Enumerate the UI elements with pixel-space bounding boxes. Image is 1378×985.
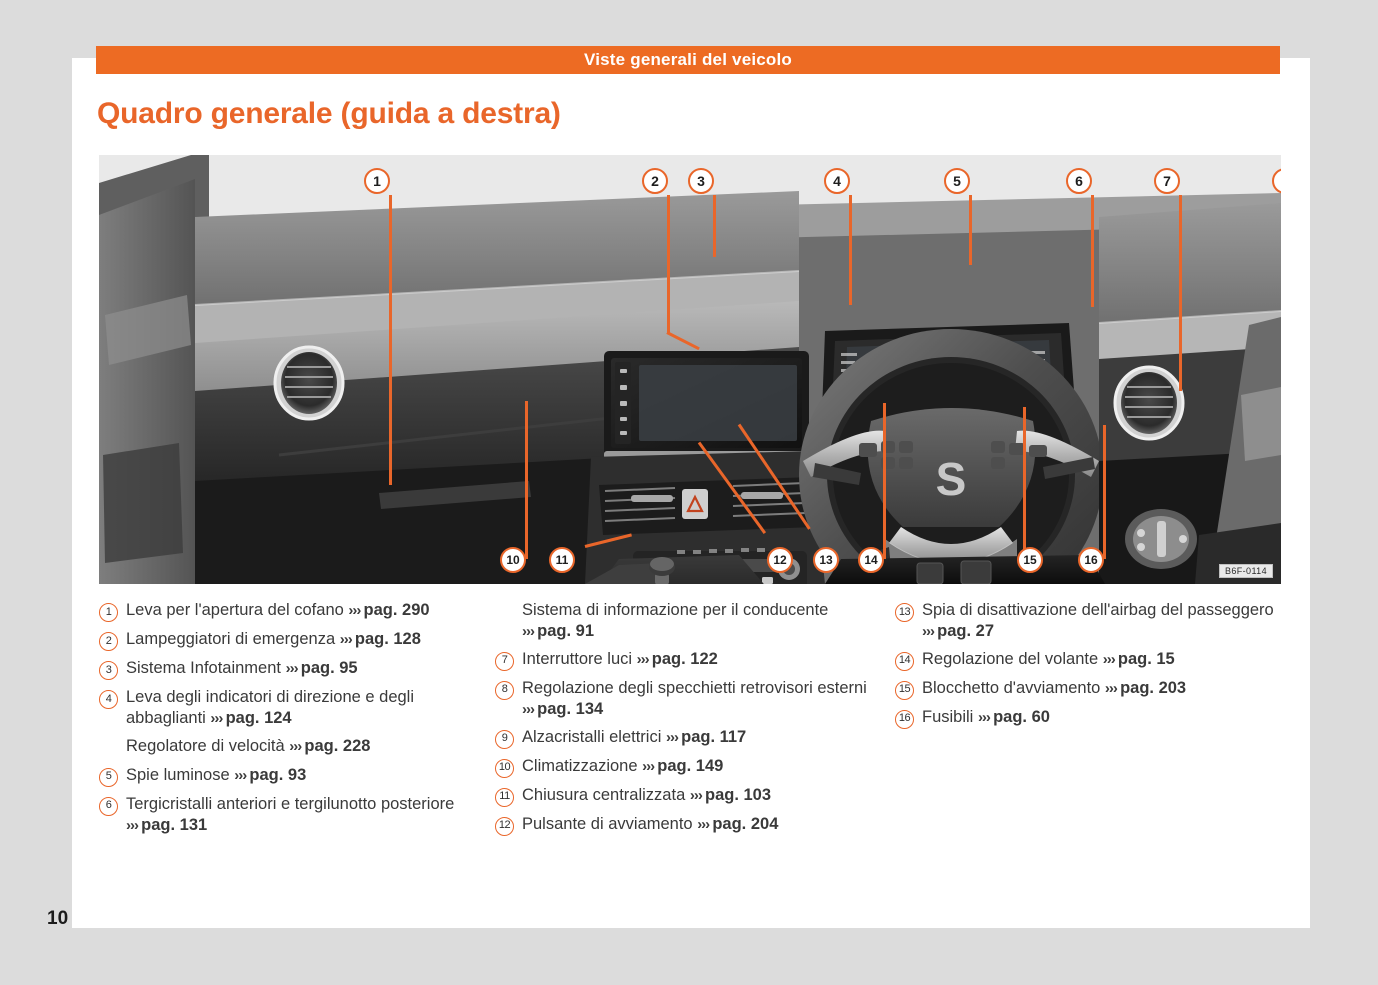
figure-callout-3: 3 bbox=[688, 168, 714, 194]
chevron-icon: ››› bbox=[289, 738, 304, 755]
legend-item-12: 12Pulsante di avviamento ››› pag. 204 bbox=[495, 814, 895, 836]
legend-item-continuation: Sistema di informazione per il conducent… bbox=[495, 600, 895, 642]
figure-callout-4: 4 bbox=[824, 168, 850, 194]
page-title: Quadro generale (guida a destra) bbox=[97, 97, 561, 131]
figure-callout-16: 16 bbox=[1078, 547, 1104, 573]
figure-callout-7: 7 bbox=[1154, 168, 1180, 194]
legend-page-ref[interactable]: ››› pag. 122 bbox=[637, 650, 718, 668]
legend-text: Pulsante di avviamento ››› pag. 204 bbox=[522, 814, 778, 835]
legend-page-ref[interactable]: ››› pag. 93 bbox=[234, 766, 306, 784]
legend-page-ref[interactable]: ››› pag. 149 bbox=[642, 757, 723, 775]
legend-number-14: 14 bbox=[895, 652, 914, 671]
chevron-icon: ››› bbox=[642, 758, 657, 775]
legend-item-14: 14Regolazione del volante ››› pag. 15 bbox=[895, 649, 1285, 671]
page-number: 10 bbox=[47, 908, 68, 930]
legend-text: Blocchetto d'avviamento ››› pag. 203 bbox=[922, 678, 1186, 699]
chevron-icon: ››› bbox=[126, 817, 141, 834]
legend-item-continuation: Regolatore di velocità ››› pag. 228 bbox=[99, 736, 495, 758]
legend-page-ref[interactable]: ››› pag. 103 bbox=[690, 786, 771, 804]
chevron-icon: ››› bbox=[666, 729, 681, 746]
legend-text: Alzacristalli elettrici ››› pag. 117 bbox=[522, 727, 746, 748]
legend-item-13: 13Spia di disattivazione dell'airbag del… bbox=[895, 600, 1285, 642]
legend-number-16: 16 bbox=[895, 710, 914, 729]
chevron-icon: ››› bbox=[522, 623, 537, 640]
leader-14 bbox=[883, 403, 886, 559]
legend-column-2: Sistema di informazione per il conducent… bbox=[495, 600, 895, 843]
figure-callout-15: 15 bbox=[1017, 547, 1043, 573]
chevron-icon: ››› bbox=[234, 767, 249, 784]
chevron-icon: ››› bbox=[978, 709, 993, 726]
legend-page-ref[interactable]: ››› pag. 27 bbox=[922, 622, 994, 640]
legend-number-blank bbox=[99, 739, 118, 758]
legend-item-15: 15Blocchetto d'avviamento ››› pag. 203 bbox=[895, 678, 1285, 700]
legend-text: Fusibili ››› pag. 60 bbox=[922, 707, 1050, 728]
legend-page-ref[interactable]: ››› pag. 203 bbox=[1105, 679, 1186, 697]
legend-text: Regolazione del volante ››› pag. 15 bbox=[922, 649, 1175, 670]
chevron-icon: ››› bbox=[340, 631, 355, 648]
legend-text: Tergicristalli anteriori e tergilunotto … bbox=[126, 794, 495, 836]
chevron-icon: ››› bbox=[286, 660, 301, 677]
legend-number-5: 5 bbox=[99, 768, 118, 787]
legend-page-ref[interactable]: ››› pag. 124 bbox=[210, 709, 291, 727]
legend-number-2: 2 bbox=[99, 632, 118, 651]
figure-callout-2: 2 bbox=[642, 168, 668, 194]
leader-1 bbox=[389, 195, 392, 485]
legend-number-4: 4 bbox=[99, 690, 118, 709]
legend-item-8: 8Regolazione degli specchietti retroviso… bbox=[495, 678, 895, 720]
chevron-icon: ››› bbox=[1103, 651, 1118, 668]
running-header-bar: Viste generali del veicolo bbox=[96, 46, 1280, 74]
legend-number-10: 10 bbox=[495, 759, 514, 778]
legend-item-5: 5Spie luminose ››› pag. 93 bbox=[99, 765, 495, 787]
legend-item-6: 6Tergicristalli anteriori e tergilunotto… bbox=[99, 794, 495, 836]
figure-callout-6: 6 bbox=[1066, 168, 1092, 194]
legend-text: Interruttore luci ››› pag. 122 bbox=[522, 649, 718, 670]
legend-page-ref[interactable]: ››› pag. 131 bbox=[126, 816, 207, 834]
dashboard-figure: S bbox=[99, 155, 1281, 584]
chevron-icon: ››› bbox=[210, 710, 225, 727]
legend-item-7: 7Interruttore luci ››› pag. 122 bbox=[495, 649, 895, 671]
legend-page-ref[interactable]: ››› pag. 134 bbox=[522, 700, 603, 718]
chevron-icon: ››› bbox=[1105, 680, 1120, 697]
legend-number-7: 7 bbox=[495, 652, 514, 671]
legend-item-10: 10Climatizzazione ››› pag. 149 bbox=[495, 756, 895, 778]
leader-7 bbox=[1179, 195, 1182, 391]
chevron-icon: ››› bbox=[637, 651, 652, 668]
leader-2a bbox=[667, 195, 670, 333]
legend-text: Leva per l'apertura del cofano ››› pag. … bbox=[126, 600, 430, 621]
legend-text: Spia di disattivazione dell'airbag del p… bbox=[922, 600, 1285, 642]
legend-column-3: 13Spia di disattivazione dell'airbag del… bbox=[895, 600, 1285, 843]
legend-number-15: 15 bbox=[895, 681, 914, 700]
legend-text: Sistema Infotainment ››› pag. 95 bbox=[126, 658, 358, 679]
legend-number-12: 12 bbox=[495, 817, 514, 836]
legend-page-ref[interactable]: ››› pag. 91 bbox=[522, 622, 594, 640]
figure-callout-11: 11 bbox=[549, 547, 575, 573]
legend-page-ref[interactable]: ››› pag. 204 bbox=[697, 815, 778, 833]
legend-text: Chiusura centralizzata ››› pag. 103 bbox=[522, 785, 771, 806]
chevron-icon: ››› bbox=[348, 602, 363, 619]
leader-4 bbox=[849, 195, 852, 305]
legend-text: Spie luminose ››› pag. 93 bbox=[126, 765, 306, 786]
legend-page-ref[interactable]: ››› pag. 60 bbox=[978, 708, 1050, 726]
legend-text: Lampeggiatori di emergenza ››› pag. 128 bbox=[126, 629, 421, 650]
figure-callout-12: 12 bbox=[767, 547, 793, 573]
legend-page-ref[interactable]: ››› pag. 95 bbox=[286, 659, 358, 677]
leader-10 bbox=[525, 401, 528, 559]
image-code-label: B6F-0114 bbox=[1219, 564, 1273, 578]
figure-callout-5: 5 bbox=[944, 168, 970, 194]
legend-text: Climatizzazione ››› pag. 149 bbox=[522, 756, 723, 777]
legend-number-9: 9 bbox=[495, 730, 514, 749]
legend-page-ref[interactable]: ››› pag. 117 bbox=[666, 728, 746, 746]
legend-item-3: 3Sistema Infotainment ››› pag. 95 bbox=[99, 658, 495, 680]
legend-page-ref[interactable]: ››› pag. 15 bbox=[1103, 650, 1175, 668]
leader-3 bbox=[713, 195, 716, 257]
leader-16 bbox=[1103, 425, 1106, 559]
chevron-icon: ››› bbox=[697, 816, 712, 833]
legend-number-6: 6 bbox=[99, 797, 118, 816]
legend-item-4: 4Leva degli indicatori di direzione e de… bbox=[99, 687, 495, 729]
legend-number-3: 3 bbox=[99, 661, 118, 680]
chevron-icon: ››› bbox=[922, 623, 937, 640]
leader-15 bbox=[1023, 407, 1026, 559]
legend-number-blank bbox=[495, 603, 514, 622]
legend-text: Regolatore di velocità ››› pag. 228 bbox=[126, 736, 370, 757]
legend-page-ref[interactable]: ››› pag. 228 bbox=[289, 737, 370, 755]
svg-text:S: S bbox=[936, 453, 967, 505]
legend-item-1: 1Leva per l'apertura del cofano ››› pag.… bbox=[99, 600, 495, 622]
legend-number-1: 1 bbox=[99, 603, 118, 622]
figure-legend: 1Leva per l'apertura del cofano ››› pag.… bbox=[99, 600, 1289, 843]
legend-text: Regolazione degli specchietti retrovisor… bbox=[522, 678, 895, 720]
legend-number-13: 13 bbox=[895, 603, 914, 622]
legend-page-ref[interactable]: ››› pag. 290 bbox=[348, 601, 429, 619]
leader-5 bbox=[969, 195, 972, 265]
figure-callout-10: 10 bbox=[500, 547, 526, 573]
legend-page-ref[interactable]: ››› pag. 128 bbox=[340, 630, 421, 648]
legend-column-1: 1Leva per l'apertura del cofano ››› pag.… bbox=[99, 600, 495, 843]
figure-callout-14: 14 bbox=[858, 547, 884, 573]
chevron-icon: ››› bbox=[522, 701, 537, 718]
legend-text: Sistema di informazione per il conducent… bbox=[522, 600, 895, 642]
running-header-title: Viste generali del veicolo bbox=[584, 50, 792, 70]
chevron-icon: ››› bbox=[690, 787, 705, 804]
legend-item-16: 16Fusibili ››› pag. 60 bbox=[895, 707, 1285, 729]
legend-number-8: 8 bbox=[495, 681, 514, 700]
legend-text: Leva degli indicatori di direzione e deg… bbox=[126, 687, 495, 729]
legend-item-11: 11Chiusura centralizzata ››› pag. 103 bbox=[495, 785, 895, 807]
legend-number-11: 11 bbox=[495, 788, 514, 807]
legend-item-2: 2Lampeggiatori di emergenza ››› pag. 128 bbox=[99, 629, 495, 651]
figure-callout-1: 1 bbox=[364, 168, 390, 194]
leader-6 bbox=[1091, 195, 1094, 307]
legend-item-9: 9Alzacristalli elettrici ››› pag. 117 bbox=[495, 727, 895, 749]
figure-callout-13: 13 bbox=[813, 547, 839, 573]
